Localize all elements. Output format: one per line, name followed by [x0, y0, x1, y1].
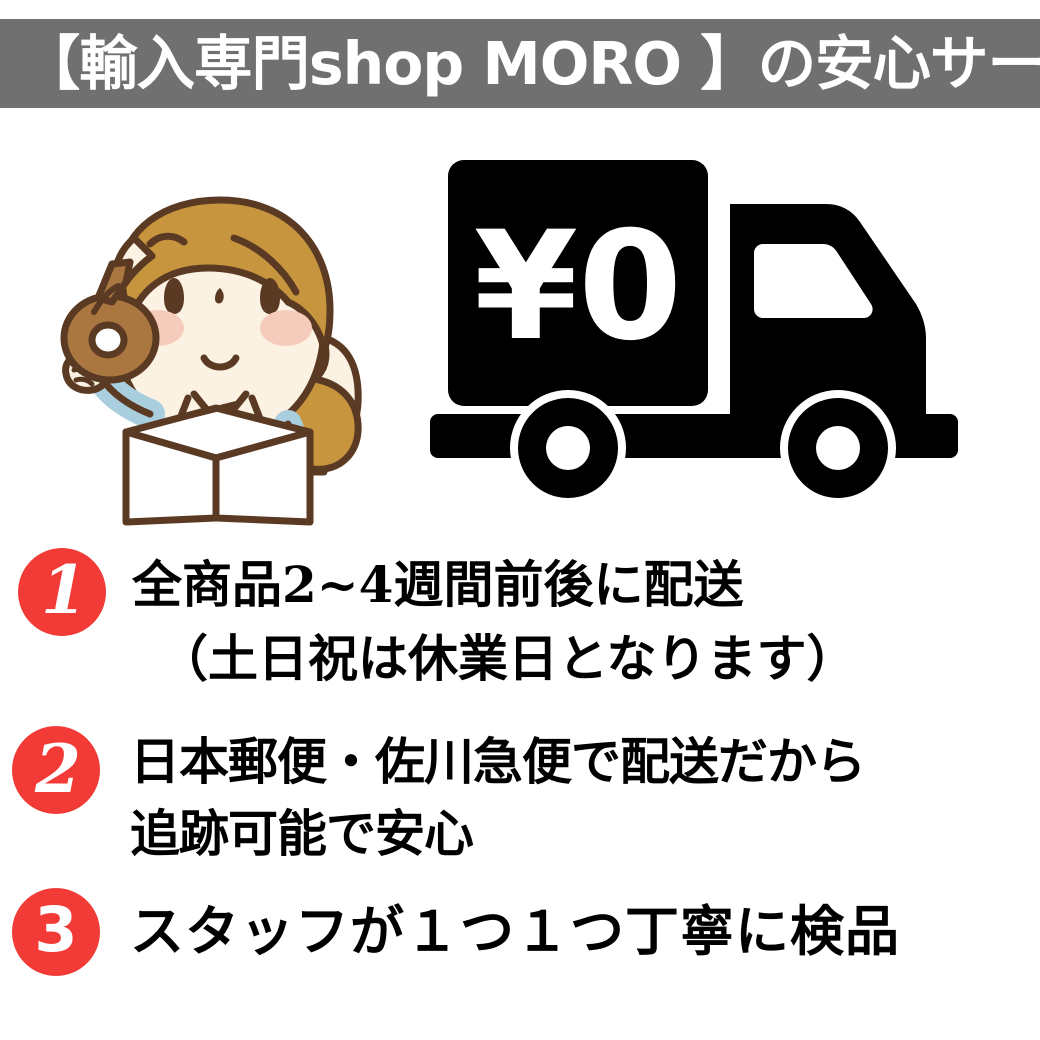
badge-number-2: 2	[12, 726, 100, 814]
benefit-line: 追跡可能で安心	[130, 798, 1040, 870]
list-item-text: 日本郵便・佐川急便で配送だから 追跡可能で安心	[100, 726, 1040, 870]
list-item-text: スタッフが１つ１つ丁寧に検品	[100, 888, 1040, 974]
badge-label: 2	[35, 736, 81, 802]
badge-label: 3	[34, 899, 77, 961]
badge-number-1: 1	[18, 548, 106, 636]
page-title: 【輸入専門shop MORO 】の安心サービス	[0, 34, 1040, 93]
list-item: 3 スタッフが１つ１つ丁寧に検品	[12, 888, 1040, 976]
woman-packing-box-illustration	[38, 142, 398, 532]
badge-label: 1	[41, 557, 87, 623]
list-item: 1 全商品2~4週間前後に配送 （土日祝は休業日となります）	[18, 548, 1040, 696]
truck-price-label: ¥0	[474, 200, 683, 374]
list-item-text: 全商品2~4週間前後に配送 （土日祝は休業日となります）	[106, 548, 1040, 696]
benefit-line: スタッフが１つ１つ丁寧に検品	[130, 888, 1040, 974]
delivery-truck-icon: ¥0	[418, 146, 998, 528]
benefits-list: 1 全商品2~4週間前後に配送 （土日祝は休業日となります） 2 日本郵便・佐川…	[0, 548, 1040, 976]
benefit-line: （土日祝は休業日となります）	[132, 622, 1040, 696]
badge-number-3: 3	[12, 888, 100, 976]
benefit-line: 全商品2~4週間前後に配送	[132, 548, 1040, 622]
list-item: 2 日本郵便・佐川急便で配送だから 追跡可能で安心	[12, 726, 1040, 870]
header-banner: 【輸入専門shop MORO 】の安心サービス	[0, 19, 1040, 108]
service-info-graphic: 【輸入専門shop MORO 】の安心サービス	[0, 0, 1040, 1040]
illustration-band: ¥0	[0, 120, 1040, 540]
benefit-line: 日本郵便・佐川急便で配送だから	[130, 726, 1040, 798]
